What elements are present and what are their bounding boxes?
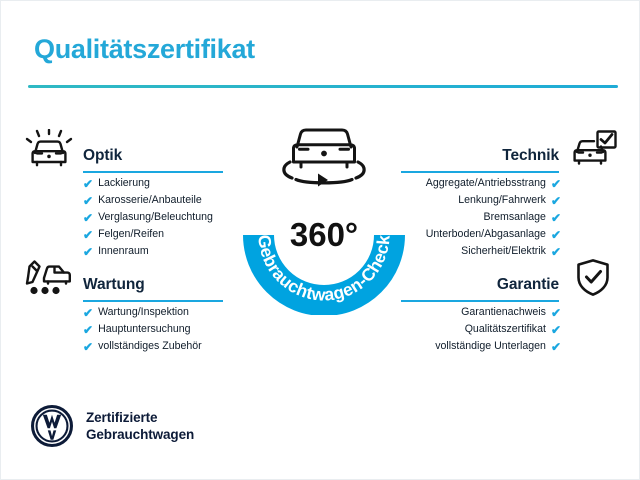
check-icon: ✔ bbox=[551, 178, 561, 190]
car-checkbox-icon bbox=[567, 129, 619, 169]
check-icon: ✔ bbox=[83, 246, 93, 258]
list-item: ✔Karosserie/Anbauteile bbox=[83, 192, 223, 209]
check-icon: ✔ bbox=[551, 307, 561, 319]
badge-360-gebrauchtwagen-check: Gebrauchtwagen-Check 360° bbox=[234, 115, 414, 315]
section-optik: Optik ✔Lackierung ✔Karosserie/Anbauteile… bbox=[23, 129, 223, 260]
section-technik-header: Technik bbox=[401, 129, 619, 175]
volkswagen-logo bbox=[31, 405, 73, 447]
check-icon: ✔ bbox=[551, 212, 561, 224]
footer-brand: Zertifizierte Gebrauchtwagen bbox=[31, 405, 194, 447]
list-item: ✔vollständiges Zubehör bbox=[83, 338, 223, 355]
section-optik-list: ✔Lackierung ✔Karosserie/Anbauteile ✔Verg… bbox=[23, 175, 223, 260]
footer-brand-line2: Gebrauchtwagen bbox=[86, 426, 194, 443]
list-item-label: vollständige Unterlagen bbox=[435, 338, 546, 355]
section-optik-header: Optik bbox=[23, 129, 223, 175]
car-front-rotate-icon bbox=[284, 130, 364, 187]
section-technik-title: Technik bbox=[502, 147, 559, 165]
check-icon: ✔ bbox=[551, 324, 561, 336]
section-optik-title: Optik bbox=[83, 147, 122, 165]
list-item: ✔Unterboden/Abgasanlage bbox=[401, 226, 561, 243]
list-item-label: Hauptuntersuchung bbox=[98, 321, 190, 338]
certificate-page: Qualitätszertifikat bbox=[0, 0, 640, 480]
section-wartung-underline bbox=[83, 300, 223, 302]
section-garantie: Garantie ✔Garantienachweis ✔Qualitätszer… bbox=[401, 258, 619, 355]
check-icon: ✔ bbox=[83, 229, 93, 241]
list-item-label: Felgen/Reifen bbox=[98, 226, 164, 243]
list-item: ✔Qualitätszertifikat bbox=[401, 321, 561, 338]
check-icon: ✔ bbox=[551, 195, 561, 207]
list-item: ✔Felgen/Reifen bbox=[83, 226, 223, 243]
section-technik: Technik ✔Aggregate/Antriebsstrang ✔Lenku… bbox=[401, 129, 619, 260]
list-item-label: Qualitätszertifikat bbox=[465, 321, 546, 338]
list-item-label: Lackierung bbox=[98, 175, 150, 192]
list-item-label: Karosserie/Anbauteile bbox=[98, 192, 202, 209]
footer-brand-line1: Zertifizierte bbox=[86, 409, 194, 426]
list-item: ✔Bremsanlage bbox=[401, 209, 561, 226]
list-item-label: Bremsanlage bbox=[484, 209, 546, 226]
service-book-pen-icon bbox=[23, 258, 75, 298]
section-optik-underline bbox=[83, 171, 223, 173]
page-title: Qualitätszertifikat bbox=[34, 34, 255, 65]
list-item: ✔Aggregate/Antriebsstrang bbox=[401, 175, 561, 192]
section-garantie-underline bbox=[401, 300, 559, 302]
section-wartung-title: Wartung bbox=[83, 276, 145, 294]
section-garantie-header: Garantie bbox=[401, 258, 619, 304]
section-wartung: Wartung ✔Wartung/Inspektion ✔Hauptunters… bbox=[23, 258, 223, 355]
footer-brand-text: Zertifizierte Gebrauchtwagen bbox=[86, 409, 194, 443]
section-garantie-title: Garantie bbox=[497, 276, 559, 294]
section-technik-underline bbox=[401, 171, 559, 173]
check-icon: ✔ bbox=[83, 324, 93, 336]
list-item: ✔Garantienachweis bbox=[401, 304, 561, 321]
list-item: ✔Verglasung/Beleuchtung bbox=[83, 209, 223, 226]
list-item: ✔vollständige Unterlagen bbox=[401, 338, 561, 355]
car-shine-icon bbox=[23, 129, 75, 169]
shield-check-icon bbox=[567, 258, 619, 298]
list-item: ✔Lenkung/Fahrwerk bbox=[401, 192, 561, 209]
header-divider bbox=[28, 85, 618, 88]
badge-center-label: 360° bbox=[290, 216, 358, 253]
list-item-label: Lenkung/Fahrwerk bbox=[458, 192, 546, 209]
list-item: ✔Wartung/Inspektion bbox=[83, 304, 223, 321]
list-item-label: Verglasung/Beleuchtung bbox=[98, 209, 213, 226]
check-icon: ✔ bbox=[551, 229, 561, 241]
check-icon: ✔ bbox=[83, 178, 93, 190]
check-icon: ✔ bbox=[83, 195, 93, 207]
check-icon: ✔ bbox=[83, 212, 93, 224]
list-item-label: vollständiges Zubehör bbox=[98, 338, 202, 355]
check-icon: ✔ bbox=[551, 341, 561, 353]
rotation-arrow-head bbox=[318, 174, 328, 187]
list-item-label: Garantienachweis bbox=[461, 304, 546, 321]
list-item: ✔Lackierung bbox=[83, 175, 223, 192]
list-item: ✔Hauptuntersuchung bbox=[83, 321, 223, 338]
list-item-label: Wartung/Inspektion bbox=[98, 304, 189, 321]
check-icon: ✔ bbox=[83, 307, 93, 319]
check-icon: ✔ bbox=[551, 246, 561, 258]
section-wartung-header: Wartung bbox=[23, 258, 223, 304]
section-garantie-list: ✔Garantienachweis ✔Qualitätszertifikat ✔… bbox=[401, 304, 619, 355]
list-item-label: Aggregate/Antriebsstrang bbox=[426, 175, 546, 192]
check-icon: ✔ bbox=[83, 341, 93, 353]
list-item-label: Unterboden/Abgasanlage bbox=[426, 226, 546, 243]
section-technik-list: ✔Aggregate/Antriebsstrang ✔Lenkung/Fahrw… bbox=[401, 175, 619, 260]
section-wartung-list: ✔Wartung/Inspektion ✔Hauptuntersuchung ✔… bbox=[23, 304, 223, 355]
